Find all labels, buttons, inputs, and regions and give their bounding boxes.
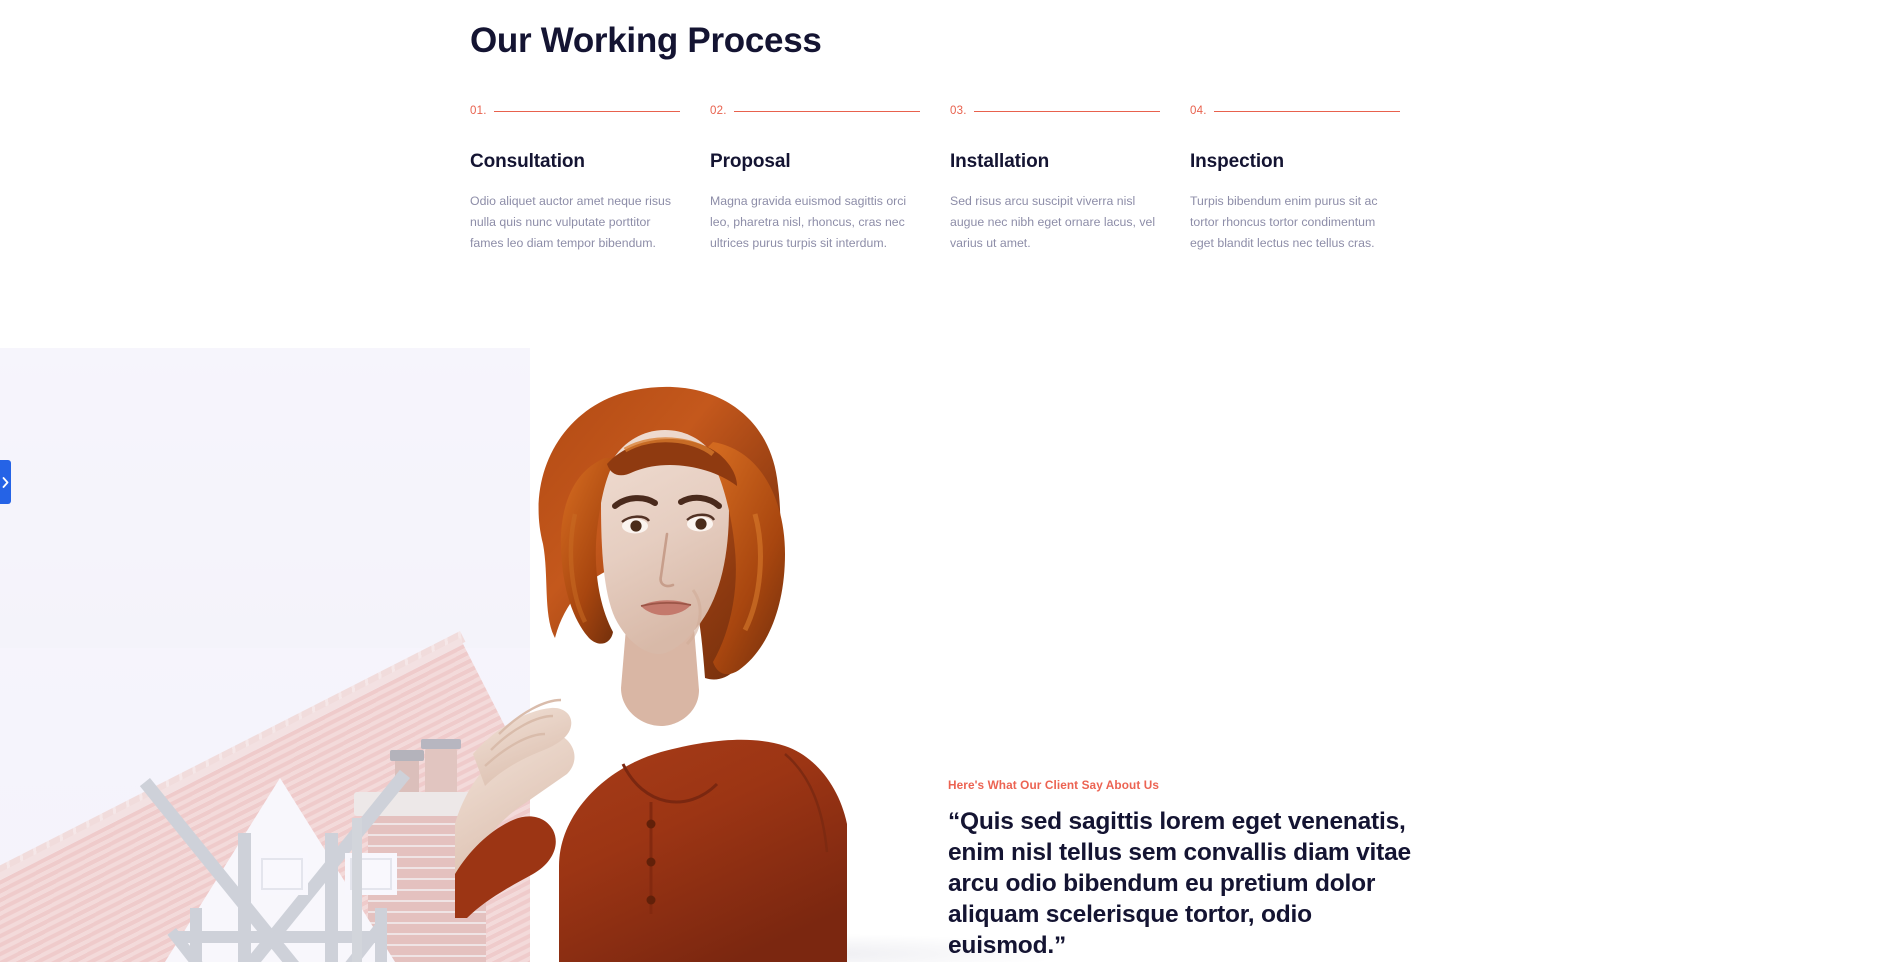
page-root: Our Working Process 01. Consultation Odi…	[0, 0, 1889, 962]
step-header: 04.	[1190, 104, 1400, 118]
step-description: Odio aliquet auctor amet neque risus nul…	[470, 191, 680, 254]
working-process-section: Our Working Process 01. Consultation Odi…	[0, 0, 1889, 348]
step-title: Inspection	[1190, 151, 1400, 174]
step-description: Turpis bibendum enim purus sit ac tortor…	[1190, 191, 1400, 254]
step-title: Consultation	[470, 151, 680, 174]
garment-body	[559, 740, 847, 962]
step-number: 04.	[1190, 105, 1207, 117]
step-divider-line	[494, 111, 680, 112]
process-step-4: 04. Inspection Turpis bibendum enim puru…	[1190, 104, 1430, 254]
step-description: Sed risus arcu suscipit viverra nisl aug…	[950, 191, 1160, 254]
step-title: Proposal	[710, 151, 920, 174]
process-step-2: 02. Proposal Magna gravida euismod sagit…	[710, 104, 950, 254]
step-header: 03.	[950, 104, 1160, 118]
step-divider-line	[1214, 111, 1400, 112]
step-header: 02.	[710, 104, 920, 118]
step-title: Installation	[950, 151, 1160, 174]
process-step-3: 03. Installation Sed risus arcu suscipit…	[950, 104, 1190, 254]
step-divider-line	[734, 111, 920, 112]
testimonial-section: Here's What Our Client Say About Us “Qui…	[0, 348, 1889, 962]
photo-overlay-wash	[0, 348, 530, 962]
step-number: 02.	[710, 105, 727, 117]
process-steps-list: 01. Consultation Odio aliquet auctor ame…	[470, 104, 1430, 254]
client-portrait-photo	[455, 354, 875, 962]
process-step-1: 01. Consultation Odio aliquet auctor ame…	[470, 104, 710, 254]
page-title: Our Working Process	[470, 20, 822, 62]
step-header: 01.	[470, 104, 680, 118]
garment-button	[647, 896, 656, 905]
edge-flyout-tab[interactable]	[0, 460, 11, 504]
house-exterior-photo	[0, 348, 530, 962]
step-description: Magna gravida euismod sagittis orci leo,…	[710, 191, 920, 254]
testimonial-quote: “Quis sed sagittis lorem eget venenatis,…	[948, 806, 1418, 961]
pupil-left	[630, 520, 641, 531]
step-divider-line	[974, 111, 1160, 112]
pupil-right	[695, 518, 706, 529]
step-number: 03.	[950, 105, 967, 117]
garment-button	[647, 858, 656, 867]
chevron-right-icon	[2, 477, 9, 488]
garment-button	[647, 820, 656, 829]
step-number: 01.	[470, 105, 487, 117]
testimonial-eyebrow: Here's What Our Client Say About Us	[948, 778, 1159, 792]
